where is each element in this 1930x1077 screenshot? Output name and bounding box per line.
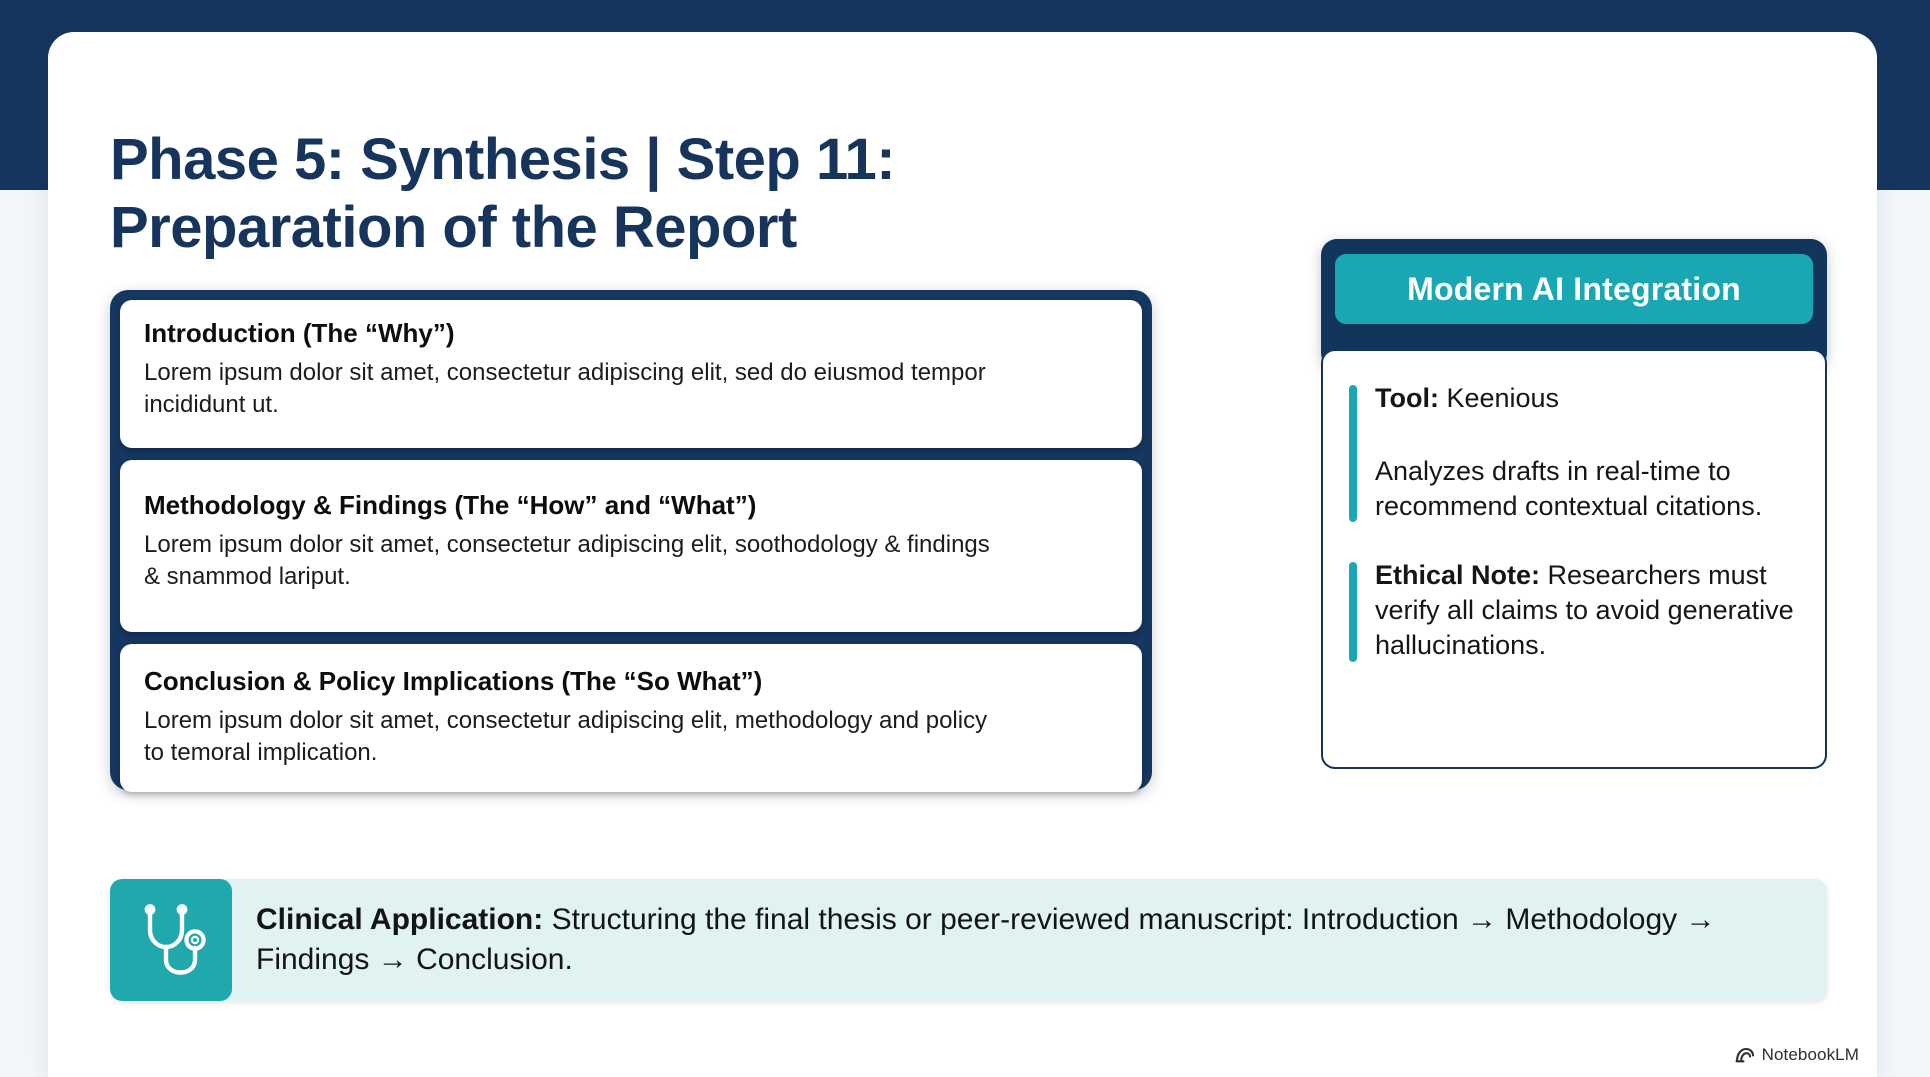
accent-bar (1349, 385, 1357, 522)
report-section-title: Methodology & Findings (The “How” and “W… (144, 490, 1118, 521)
notebooklm-watermark: NotebookLM (1735, 1045, 1859, 1065)
report-section-body: Lorem ipsum dolor sit amet, consectetur … (144, 529, 1004, 593)
report-section-card[interactable]: Introduction (The “Why”) Lorem ipsum dol… (120, 300, 1142, 448)
ai-tool-item: Tool: Keenious Analyzes drafts in real-t… (1349, 381, 1799, 524)
page-title: Phase 5: Synthesis | Step 11: Preparatio… (110, 126, 1230, 263)
report-section-card[interactable]: Methodology & Findings (The “How” and “W… (120, 460, 1142, 632)
report-section-title: Introduction (The “Why”) (144, 318, 1118, 349)
report-sections-frame: Introduction (The “Why”) Lorem ipsum dol… (110, 290, 1152, 790)
report-section-title: Conclusion & Policy Implications (The “S… (144, 666, 1118, 697)
page-title-line-1: Phase 5: Synthesis | Step 11: (110, 126, 1230, 194)
ai-tool-line: Tool: Keenious (1375, 381, 1799, 416)
ai-tool-description: Analyzes drafts in real-time to recommen… (1375, 454, 1799, 524)
report-section-body: Lorem ipsum dolor sit amet, consectetur … (144, 705, 1004, 769)
report-section-card[interactable]: Conclusion & Policy Implications (The “S… (120, 644, 1142, 792)
page-title-line-2: Preparation of the Report (110, 194, 1230, 262)
ai-ethical-note-item: Ethical Note: Researchers must verify al… (1349, 558, 1799, 663)
ai-ethical-note-label: Ethical Note: (1375, 560, 1540, 590)
notebooklm-logo-icon (1735, 1046, 1755, 1064)
ai-panel-body: Tool: Keenious Analyzes drafts in real-t… (1321, 349, 1827, 769)
ai-panel-header-label: Modern AI Integration (1407, 271, 1741, 308)
stethoscope-icon (134, 902, 208, 978)
report-section-body: Lorem ipsum dolor sit amet, consectetur … (144, 357, 1004, 421)
modern-ai-integration-panel: Modern AI Integration Tool: Keenious Ana… (1321, 239, 1827, 769)
slide-stage: Phase 5: Synthesis | Step 11: Preparatio… (0, 0, 1930, 1077)
accent-bar (1349, 562, 1357, 661)
notebooklm-watermark-label: NotebookLM (1762, 1045, 1859, 1065)
clinical-icon-tile (110, 879, 232, 1001)
ai-tool-label: Tool: (1375, 383, 1439, 413)
ai-tool-value: Keenious (1439, 383, 1559, 413)
ai-ethical-note-line: Ethical Note: Researchers must verify al… (1375, 558, 1799, 663)
clinical-application-banner: Clinical Application: Structuring the fi… (110, 879, 1827, 1001)
slide-card: Phase 5: Synthesis | Step 11: Preparatio… (48, 32, 1877, 1077)
ai-panel-header-badge: Modern AI Integration (1335, 254, 1813, 324)
clinical-application-text: Clinical Application: Structuring the fi… (232, 879, 1827, 1001)
clinical-application-label: Clinical Application: (256, 903, 543, 936)
